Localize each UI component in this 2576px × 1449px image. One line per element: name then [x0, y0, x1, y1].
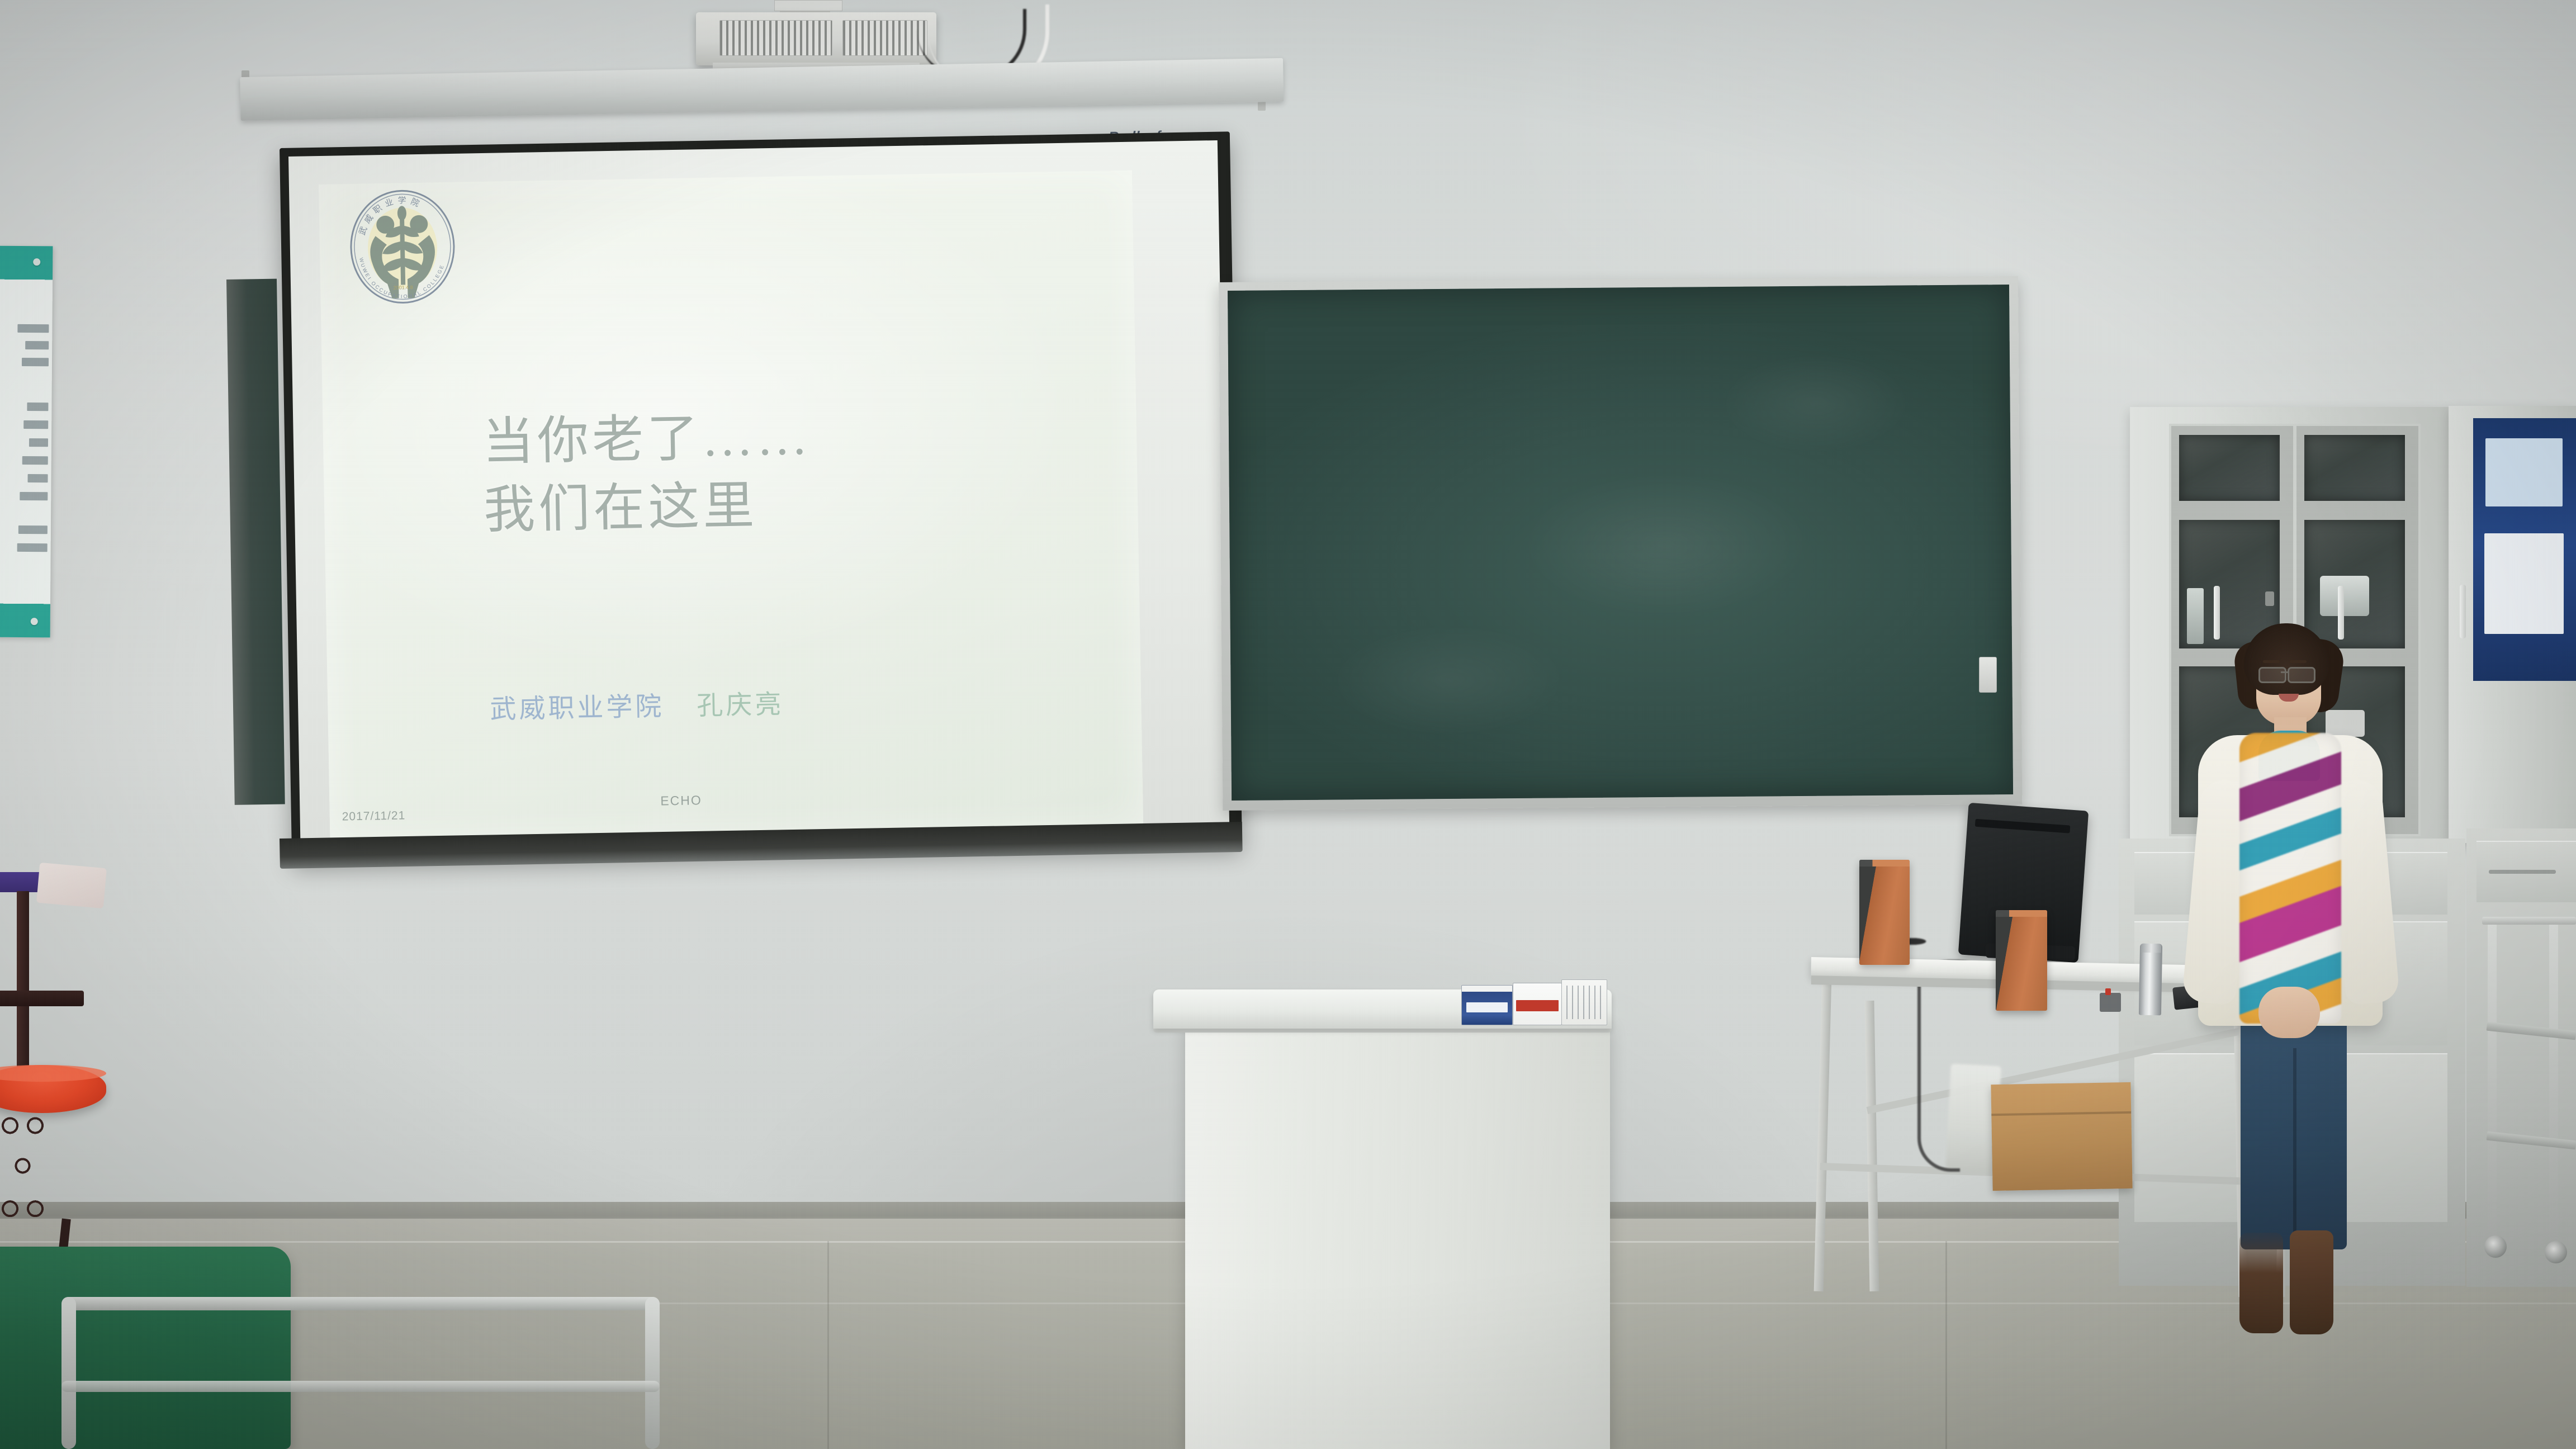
- boot-left: [2239, 1233, 2283, 1333]
- slide-title-line1: 当你老了……: [482, 408, 812, 471]
- hanging-cable: [1917, 984, 1960, 1172]
- eyebrow-left: [2263, 660, 2280, 663]
- cardboard-carton: [1991, 1082, 2132, 1191]
- gray-text-box: [1561, 979, 1607, 1025]
- slide-subtitle: 武威职业学院孔庆亮: [490, 678, 1049, 726]
- eyeglasses-lens-right: [2288, 667, 2315, 683]
- thermos-flask: [2139, 944, 2162, 1016]
- slide-subtitle-name: 孔庆亮: [697, 690, 784, 721]
- boot-right: [2290, 1230, 2333, 1334]
- folded-cloth: [36, 863, 107, 908]
- cart-caster-wheel: [2545, 1241, 2567, 1263]
- lectern-body: [1185, 1022, 1610, 1449]
- cabinet-glass-pane: [2304, 435, 2405, 501]
- teal-wall-poster: [0, 246, 53, 638]
- eyeglasses-lens-left: [2258, 667, 2286, 683]
- projector-body: [696, 12, 936, 65]
- slide-subtitle-org: 武威职业学院: [490, 692, 665, 724]
- trousers: [2241, 1015, 2347, 1249]
- light-switch[interactable]: [1979, 657, 1997, 693]
- speaker-left: [1859, 860, 1910, 965]
- slide-date: 2017/11/21: [342, 809, 406, 823]
- colorful-scarf: [2239, 733, 2341, 1024]
- female-presenter: [2169, 623, 2409, 1406]
- stand-ornament: [0, 1104, 70, 1238]
- white-red-label-box: [1513, 983, 1562, 1025]
- slide-title-line2: 我们在这里: [483, 466, 1099, 545]
- projector-mount-plate: [774, 0, 842, 11]
- slide-footer-label: ECHO: [660, 793, 702, 808]
- projected-slide: 武威职业学院 WUWEI OCCUPATIONAL COLLEGE 2001.4…: [319, 171, 1143, 844]
- seal-year-text: 2001.4.8: [394, 285, 413, 291]
- cabinet-handle[interactable]: [2460, 585, 2466, 638]
- classroom-scene: ● Redleaf: [0, 0, 2576, 1449]
- cabinet-glass-pane: [2179, 435, 2280, 501]
- cabinet-blue-panel: [2473, 418, 2576, 681]
- cart-caster-wheel: [2484, 1235, 2507, 1258]
- hair: [2244, 623, 2329, 695]
- speaker-right: [1996, 910, 2047, 1011]
- eyebrow-right: [2290, 660, 2307, 663]
- slide-title: 当你老了…… 我们在这里: [482, 397, 1099, 545]
- drawer-handle[interactable]: [2489, 870, 2556, 874]
- chalkboard-surface: [1228, 285, 2013, 801]
- chalkboard-left-section: [226, 279, 285, 805]
- college-seal-logo: 武威职业学院 WUWEI OCCUPATIONAL COLLEGE 2001.4…: [345, 187, 460, 307]
- clasped-hands: [2258, 987, 2320, 1038]
- bed-side-rail: [61, 1297, 660, 1449]
- eyeglasses-bridge: [2281, 671, 2289, 673]
- stand-post: [17, 891, 29, 1076]
- medical-trolley[interactable]: [2482, 917, 2576, 1280]
- small-device[interactable]: [2100, 993, 2121, 1012]
- cabinet-lock-icon[interactable]: [2265, 591, 2274, 606]
- blue-supply-box: [1461, 985, 1513, 1025]
- shelf-metal-canister: [2320, 576, 2369, 616]
- stand-basin-ring: [0, 991, 84, 1006]
